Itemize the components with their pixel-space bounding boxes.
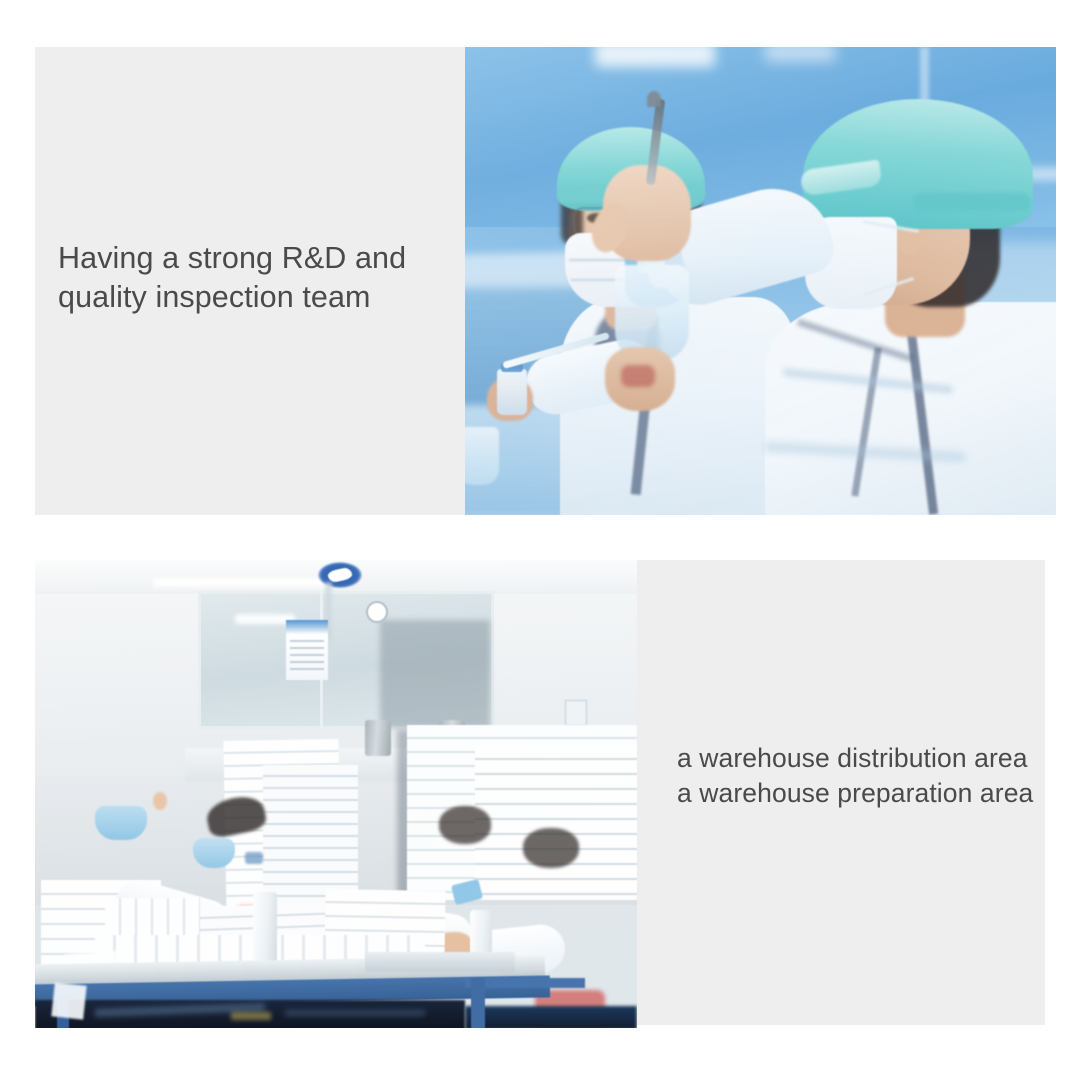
warehouse-caption-panel: a warehouse distribution area a warehous…: [637, 560, 1045, 1025]
glass-flask-on-counter: [465, 427, 499, 485]
under-table-yellow-marking: [231, 1012, 271, 1020]
ceiling-light-icon: [153, 578, 328, 587]
worker-2-badge: [245, 852, 263, 864]
under-table-highlight-2: [285, 1010, 425, 1016]
window-interior-shadow: [380, 620, 490, 728]
floor-shadow-right: [465, 1006, 637, 1028]
paper-hanging-from-table: [51, 982, 86, 1019]
warehouse-section: a warehouse distribution area a warehous…: [35, 560, 1045, 1028]
steel-table-top-right: [365, 952, 515, 972]
worker-2-face-mask-icon: [193, 838, 235, 868]
ceiling-light-secondary-icon: [765, 47, 835, 61]
rnd-caption-text: Having a strong R&D and quality inspecti…: [58, 239, 458, 317]
rnd-quality-section: Having a strong R&D and quality inspecti…: [35, 47, 1056, 515]
wall-clock-icon: [366, 601, 388, 623]
lab-inspection-photo: [465, 47, 1056, 515]
white-bottle-center: [253, 892, 277, 962]
worker-3-face-mask-icon: [423, 838, 473, 876]
wall-notice-poster-text: [290, 640, 324, 674]
worker-1-ear: [153, 792, 167, 810]
rnd-caption-panel: Having a strong R&D and quality inspecti…: [35, 47, 465, 515]
ceiling-light-icon: [595, 47, 715, 67]
technician-b-hairnet-elastic: [913, 193, 1031, 211]
small-wall-sign: [565, 700, 587, 726]
red-item-in-hand: [621, 365, 655, 387]
blue-table-leg-right: [471, 978, 485, 1028]
worker-1-face-mask-icon: [95, 806, 147, 840]
warehouse-packing-photo: [35, 560, 637, 1028]
metal-canister-left: [365, 720, 391, 756]
laboratory-tool-tip: [647, 91, 661, 107]
reagent-bottle: [497, 369, 527, 415]
warehouse-caption-text: a warehouse distribution area a warehous…: [677, 741, 1057, 811]
